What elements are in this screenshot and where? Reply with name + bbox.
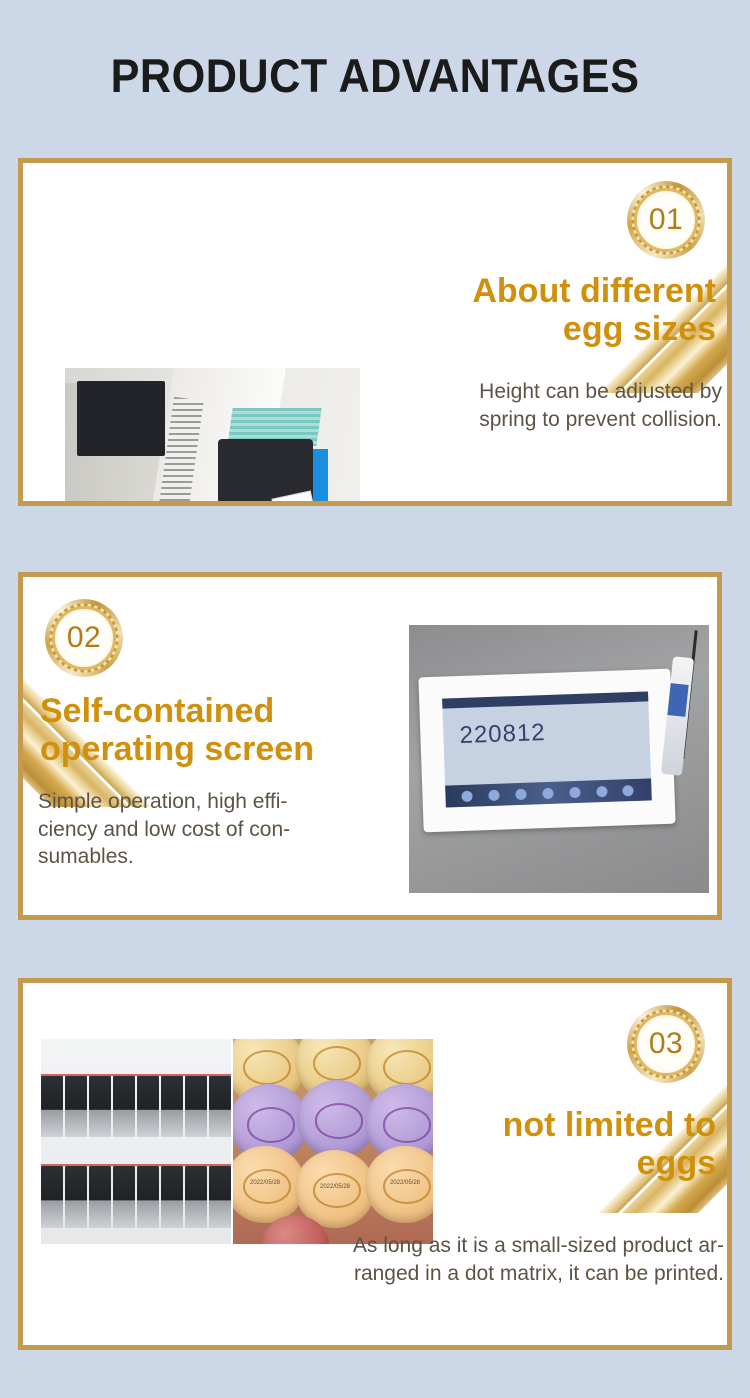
card-01-headline: About different egg sizes bbox=[386, 272, 716, 348]
badge-number-02: 02 bbox=[45, 599, 123, 677]
badge-label: 01 bbox=[649, 205, 683, 235]
badge-number-01: 01 bbox=[627, 181, 705, 259]
badge-disc: 02 bbox=[52, 606, 116, 670]
card-03-body: As long as it is a small-sized product a… bbox=[224, 1232, 724, 1287]
badge-label: 02 bbox=[67, 623, 101, 653]
card-02-headline: Self-contained operating screen bbox=[40, 692, 400, 768]
card-01-body: Height can be adjusted by spring to prev… bbox=[382, 378, 722, 433]
badge-label: 03 bbox=[649, 1029, 683, 1059]
badge-disc: 03 bbox=[634, 1012, 698, 1076]
screen-code-value: 220812 bbox=[459, 719, 546, 750]
card-03-headline: not limited to eggs bbox=[376, 1106, 716, 1182]
badge-disc: 01 bbox=[634, 188, 698, 252]
product-advantages-page: PRODUCT ADVANTAGES 01 About bbox=[0, 0, 750, 1398]
card-02-body: Simple operation, high effi- ciency and … bbox=[38, 788, 388, 871]
card-01-photo bbox=[65, 368, 360, 506]
page-title: PRODUCT ADVANTAGES bbox=[30, 48, 720, 103]
card-02-photo: 220812 bbox=[409, 625, 709, 893]
card-03-photo-left bbox=[41, 1039, 231, 1244]
badge-number-03: 03 bbox=[627, 1005, 705, 1083]
